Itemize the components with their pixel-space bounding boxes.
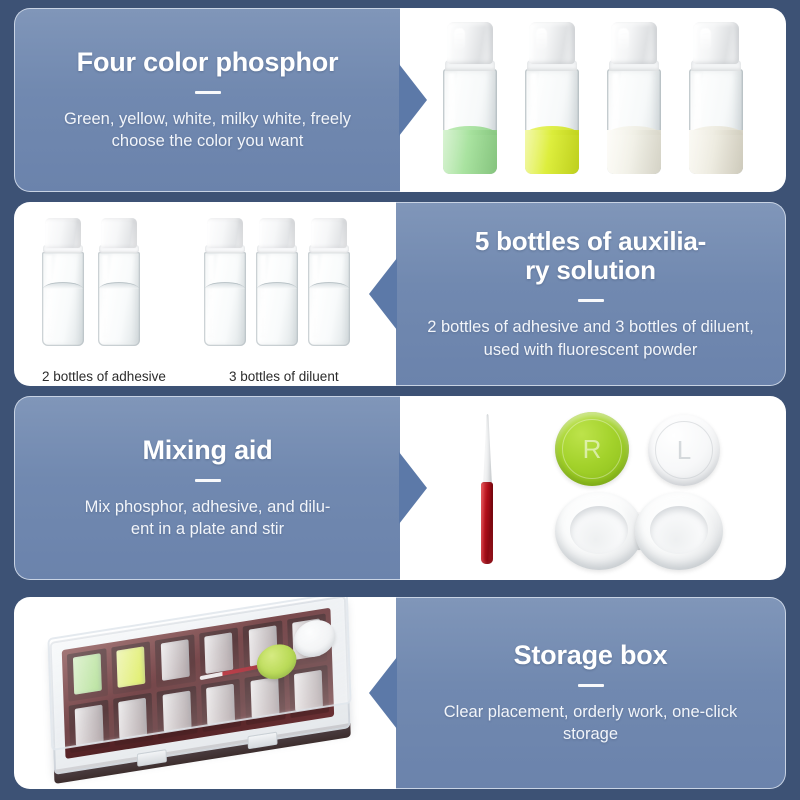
adhesive-bottle <box>42 218 84 346</box>
title-divider <box>195 91 221 94</box>
arrow-left-icon <box>369 657 397 729</box>
right-lid-letter: R <box>555 412 629 486</box>
mixing-plate-case <box>555 492 723 570</box>
panel-3-text-block: Mixing aid Mix phosphor, adhesive, and d… <box>14 396 400 580</box>
phosphor-bottle-green <box>443 22 497 174</box>
diluent-bottle <box>204 218 246 346</box>
panel-2-description: 2 bottles of adhesive and 3 bottles of d… <box>416 316 766 362</box>
panel-4-image-block <box>14 597 396 789</box>
panel-4-text-block: Storage box Clear placement, orderly wor… <box>396 597 786 789</box>
adhesive-group-caption: 2 bottles of adhesive <box>42 369 166 384</box>
arrow-right-icon <box>399 452 427 524</box>
panel-1-description: Green, yellow, white, milky white, freel… <box>43 108 373 154</box>
auxiliary-solution-bottles: 2 bottles of adhesive 3 bottles of dilue… <box>14 202 396 386</box>
diluent-group-caption: 3 bottles of diluent <box>229 369 339 384</box>
phosphor-powder-bottles <box>400 8 786 192</box>
diluent-bottle <box>256 218 298 346</box>
adhesive-bottle <box>98 218 140 346</box>
panel-storage-box: Storage box Clear placement, orderly wor… <box>14 597 786 789</box>
panel-1-image-block <box>400 8 786 192</box>
phosphor-bottle-white <box>607 22 661 174</box>
title-divider <box>578 684 604 687</box>
panel-4-description: Clear placement, orderly work, one-click… <box>426 701 756 747</box>
panel-3-image-block: R L <box>400 396 786 580</box>
stirring-stick <box>478 414 496 564</box>
panel-2-text-block: 5 bottles of auxilia- ry solution 2 bott… <box>396 202 786 386</box>
title-divider <box>578 299 604 302</box>
diluent-bottle-group <box>204 218 350 346</box>
arrow-right-icon <box>399 64 427 136</box>
left-lens-lid: L <box>648 414 720 486</box>
arrow-left-icon <box>369 258 397 330</box>
right-lens-lid: R <box>555 412 629 486</box>
mixing-aid-tools: R L <box>400 396 786 580</box>
panel-2-image-block: 2 bottles of adhesive 3 bottles of dilue… <box>14 202 396 386</box>
panel-3-description: Mix phosphor, adhesive, and dilu- ent in… <box>85 496 331 542</box>
left-lid-letter: L <box>648 414 720 486</box>
panel-3-title: Mixing aid <box>142 435 272 466</box>
panel-four-color-phosphor: Four color phosphor Green, yellow, white… <box>14 8 786 192</box>
adhesive-bottle-group <box>42 218 140 346</box>
panel-1-text-block: Four color phosphor Green, yellow, white… <box>14 8 400 192</box>
panel-auxiliary-solution: 2 bottles of adhesive 3 bottles of dilue… <box>14 202 786 386</box>
clear-storage-case <box>14 597 396 789</box>
phosphor-bottle-yellow <box>525 22 579 174</box>
panel-mixing-aid: Mixing aid Mix phosphor, adhesive, and d… <box>14 396 786 580</box>
phosphor-bottle-milky-white <box>689 22 743 174</box>
storage-case-body <box>50 597 351 775</box>
panel-2-title: 5 bottles of auxilia- ry solution <box>475 227 706 286</box>
title-divider <box>195 479 221 482</box>
panel-1-title: Four color phosphor <box>77 47 339 78</box>
diluent-bottle <box>308 218 350 346</box>
panel-4-title: Storage box <box>514 640 668 671</box>
